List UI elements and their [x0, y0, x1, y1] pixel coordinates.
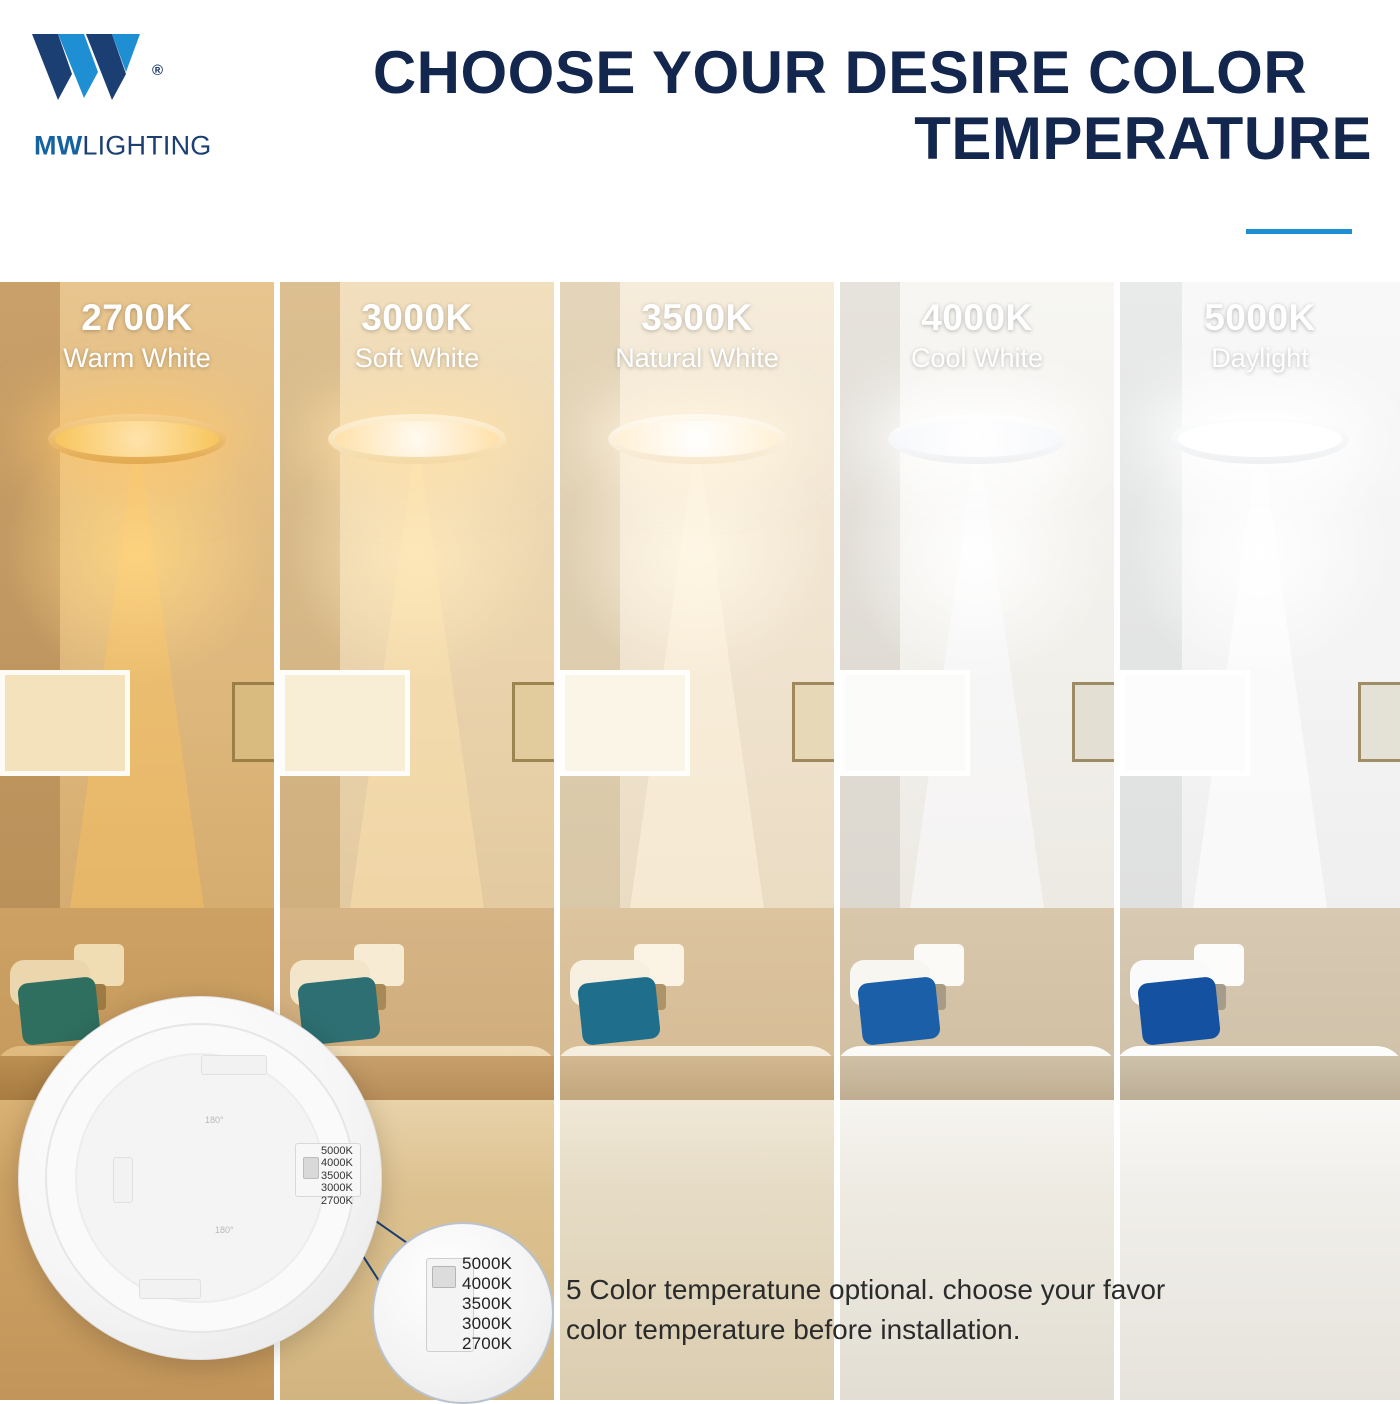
zoom-switch-knob [432, 1266, 456, 1288]
title-line-2: TEMPERATURE [280, 106, 1380, 172]
title-line-1: CHOOSE YOUR DESIRE COLOR [280, 40, 1380, 106]
wall-picture-right [1358, 682, 1400, 762]
product-tab-top [201, 1055, 267, 1075]
product-tab-left [113, 1157, 133, 1203]
panel-kelvin: 3500K [560, 296, 834, 340]
arc-label-bottom: 180° [215, 1225, 234, 1235]
fixture-lens [55, 421, 219, 457]
panel-color-name: Cool White [840, 340, 1114, 376]
fixture-lens [895, 421, 1059, 457]
product-callout-section: 180° 180° 5000K 4000K 3500K 3000K 2700K … [0, 990, 1400, 1400]
panel-kelvin: 5000K [1120, 296, 1400, 340]
caption-text: 5 Color temperatune optional. choose you… [566, 1270, 1386, 1350]
panel-kelvin: 4000K [840, 296, 1114, 340]
page-title: CHOOSE YOUR DESIRE COLOR TEMPERATURE [280, 40, 1380, 172]
header: ® MWLIGHTING CHOOSE YOUR DESIRE COLOR TE… [0, 0, 1400, 282]
zoom-switch-label-3500k: 3500K [462, 1294, 512, 1314]
wall-picture-right [1072, 682, 1114, 762]
zoom-switch-label-2700k: 2700K [462, 1334, 512, 1354]
brand-name-secondary: LIGHTING [82, 131, 211, 161]
arc-label-top: 180° [205, 1115, 224, 1125]
switch-knob[interactable] [303, 1157, 319, 1179]
switch-label-3000k: 3000K [321, 1182, 353, 1194]
ceiling-light-fixture [888, 414, 1066, 464]
panel-color-name: Soft White [280, 340, 554, 376]
wall-picture-right [232, 682, 274, 762]
caption-line-1: 5 Color temperatune optional. choose you… [566, 1270, 1386, 1310]
wall-picture-right [792, 682, 834, 762]
panel-kelvin: 2700K [0, 296, 274, 340]
switch-label-list: 5000K 4000K 3500K 3000K 2700K [321, 1145, 353, 1207]
fixture-lens [335, 421, 499, 457]
zoom-switch-label-5000k: 5000K [462, 1254, 512, 1274]
zoom-switch-label-list: 5000K 4000K 3500K 3000K 2700K [462, 1254, 512, 1354]
panel-color-name: Warm White [0, 340, 274, 376]
panel-label: 2700K Warm White [0, 296, 274, 376]
brand-name-primary: MW [34, 131, 82, 161]
switch-label-3500k: 3500K [321, 1170, 353, 1182]
panel-color-name: Natural White [560, 340, 834, 376]
switch-zoom-callout: 5000K 4000K 3500K 3000K 2700K [372, 1222, 554, 1404]
brand-wordmark: MWLIGHTING [34, 131, 212, 162]
ceiling-light-fixture [1171, 414, 1349, 464]
switch-label-5000k: 5000K [321, 1145, 353, 1157]
window [840, 670, 970, 776]
ceiling-light-fixture [48, 414, 226, 464]
zoom-switch-label-4000k: 4000K [462, 1274, 512, 1294]
ceiling-light-fixture [608, 414, 786, 464]
window [280, 670, 410, 776]
panel-color-name: Daylight [1120, 340, 1400, 376]
registered-mark: ® [152, 62, 163, 79]
caption-line-2: color temperature before installation. [566, 1310, 1386, 1350]
zoom-switch-label-3000k: 3000K [462, 1314, 512, 1334]
product-image: 180° 180° 5000K 4000K 3500K 3000K 2700K [18, 996, 382, 1360]
panel-kelvin: 3000K [280, 296, 554, 340]
title-underline [1246, 229, 1352, 234]
wall-picture-right [512, 682, 554, 762]
panel-label: 3500K Natural White [560, 296, 834, 376]
switch-label-4000k: 4000K [321, 1157, 353, 1169]
fixture-lens [1178, 421, 1342, 457]
infographic-root: ® MWLIGHTING CHOOSE YOUR DESIRE COLOR TE… [0, 0, 1400, 1400]
panel-label: 3000K Soft White [280, 296, 554, 376]
brand-logo: ® MWLIGHTING [22, 28, 272, 153]
panel-label: 4000K Cool White [840, 296, 1114, 376]
window [0, 670, 130, 776]
product-tab-bottom [139, 1279, 201, 1299]
window [560, 670, 690, 776]
panel-label: 5000K Daylight [1120, 296, 1400, 376]
ceiling-light-fixture [328, 414, 506, 464]
fixture-lens [615, 421, 779, 457]
mw-logo-icon [28, 28, 148, 106]
switch-label-2700k: 2700K [321, 1195, 353, 1207]
window [1120, 670, 1250, 776]
